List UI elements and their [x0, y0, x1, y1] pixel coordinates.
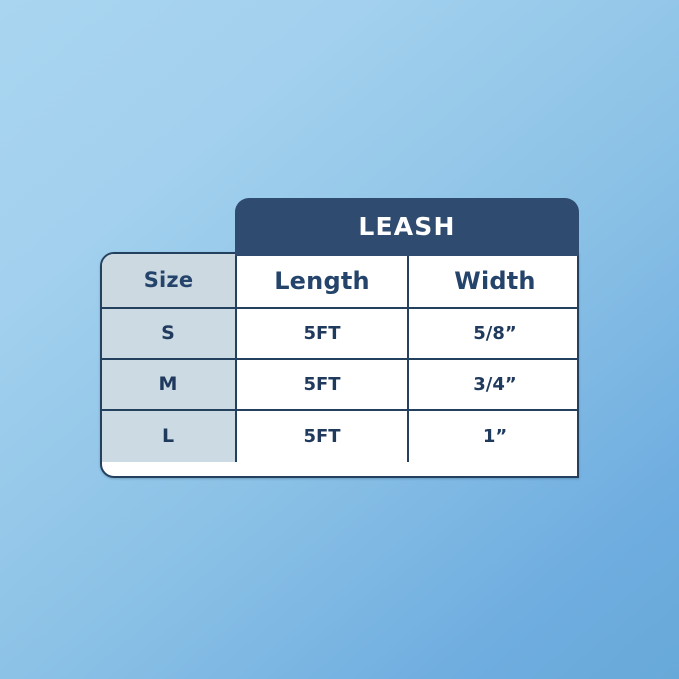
- column-header-size: Size: [102, 254, 237, 309]
- table-cell-length-l: 5FT: [237, 411, 409, 462]
- chart-title-banner: LEASH: [235, 198, 579, 256]
- table-cell-length-s: 5FT: [237, 309, 409, 360]
- table-cell-width-l: 1”: [409, 411, 579, 462]
- chart-title: LEASH: [358, 214, 455, 241]
- table-row-size-s: S: [102, 309, 237, 360]
- size-chart-table: Size Length Width S 5FT 5/8” M 5FT 3/4” …: [100, 252, 579, 478]
- size-chart: LEASH Size Length Width S 5FT 5/8” M 5FT…: [100, 198, 579, 478]
- table-cell-width-s: 5/8”: [409, 309, 579, 360]
- column-header-width: Width: [409, 254, 579, 309]
- table-row-size-m: M: [102, 360, 237, 411]
- table-cell-width-m: 3/4”: [409, 360, 579, 411]
- column-header-length: Length: [237, 254, 409, 309]
- table-row-size-l: L: [102, 411, 237, 462]
- table-cell-length-m: 5FT: [237, 360, 409, 411]
